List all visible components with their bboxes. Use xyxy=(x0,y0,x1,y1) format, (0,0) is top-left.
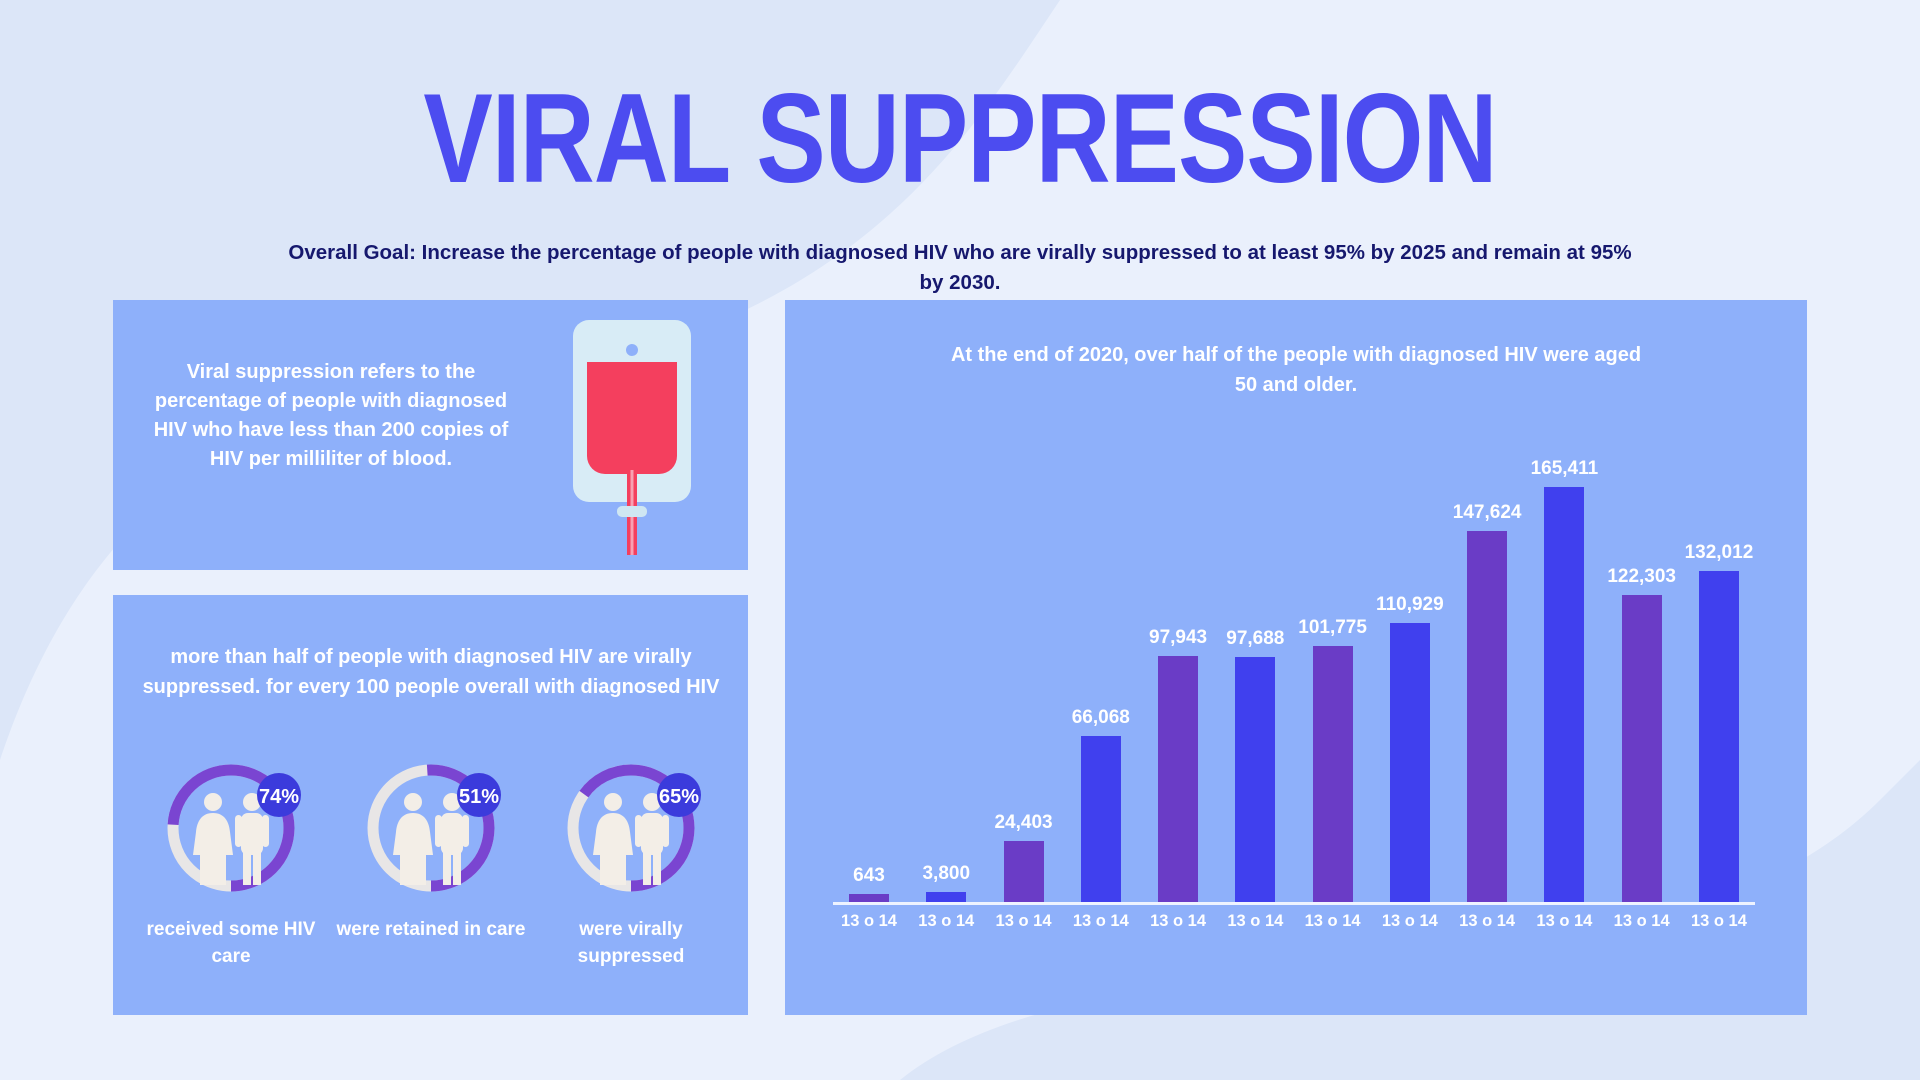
x-axis-tick: 13 o 14 xyxy=(1071,912,1131,931)
x-axis-tick: 13 o 14 xyxy=(1457,912,1517,931)
bar-value-label: 147,624 xyxy=(1453,502,1522,524)
page-title: VIRAL SUPPRESSION xyxy=(0,0,1920,203)
header: VIRAL SUPPRESSION Overall Goal: Increase… xyxy=(0,0,1920,298)
definition-text: Viral suppression refers to the percenta… xyxy=(141,358,521,474)
donut-cell-received-care: 74% received some HIV care xyxy=(136,753,326,970)
bar xyxy=(1467,531,1507,902)
x-axis-tick: 13 o 14 xyxy=(1225,912,1285,931)
bar-column: 165,411 xyxy=(1534,420,1594,902)
bar xyxy=(1390,623,1430,902)
bar-column: 101,775 xyxy=(1303,420,1363,902)
bar-chart: 6433,80024,40366,06897,94397,688101,7751… xyxy=(825,420,1767,980)
donut-badge-value: 74% xyxy=(259,786,299,808)
bar-column: 122,303 xyxy=(1612,420,1672,902)
bar-column: 97,688 xyxy=(1225,420,1285,902)
bar xyxy=(1081,736,1121,902)
bar-column: 110,929 xyxy=(1380,420,1440,902)
bar xyxy=(1313,646,1353,902)
x-axis-tick: 13 o 14 xyxy=(1148,912,1208,931)
donut-badge-value: 51% xyxy=(459,786,499,808)
bar-value-label: 97,688 xyxy=(1226,628,1284,650)
bar-column: 97,943 xyxy=(1148,420,1208,902)
page-subtitle: Overall Goal: Increase the percentage of… xyxy=(285,238,1635,298)
bar-chart-plot: 6433,80024,40366,06897,94397,688101,7751… xyxy=(839,420,1749,902)
donut-label: received some HIV care xyxy=(136,916,326,970)
bar-column: 66,068 xyxy=(1071,420,1131,902)
x-axis-tick: 13 o 14 xyxy=(839,912,899,931)
donut-badge-value: 65% xyxy=(659,786,699,808)
x-axis-tick: 13 o 14 xyxy=(1380,912,1440,931)
bar xyxy=(1544,487,1584,902)
donut-chart-row: 74% received some HIV care xyxy=(131,753,731,970)
donut-cell-retained-in-care: 51% were retained in care xyxy=(336,753,526,970)
bar-column: 147,624 xyxy=(1457,420,1517,902)
x-axis-tick: 13 o 14 xyxy=(1303,912,1363,931)
bar-value-label: 101,775 xyxy=(1298,617,1367,639)
bar-column: 643 xyxy=(839,420,899,902)
bar-column: 24,403 xyxy=(994,420,1054,902)
infographic-page: VIRAL SUPPRESSION Overall Goal: Increase… xyxy=(0,0,1920,1080)
stats-text: more than half of people with diagnosed … xyxy=(141,642,721,702)
donut-chart-retained-in-care: 51% xyxy=(356,753,506,903)
bar-value-label: 132,012 xyxy=(1685,542,1754,564)
bar-value-label: 3,800 xyxy=(922,863,970,885)
bar-value-label: 165,411 xyxy=(1531,458,1599,480)
donut-cell-virally-suppressed: 65% were virally suppressed xyxy=(536,753,726,970)
bar-value-label: 24,403 xyxy=(994,812,1052,834)
x-axis-tick: 13 o 14 xyxy=(1689,912,1749,931)
chart-card: At the end of 2020, over half of the peo… xyxy=(785,300,1807,1015)
x-axis-tick-labels: 13 o 1413 o 1413 o 1413 o 1413 o 1413 o … xyxy=(839,912,1749,931)
donut-label: were retained in care xyxy=(336,916,526,943)
donut-label: were virally suppressed xyxy=(536,916,726,970)
bar xyxy=(1235,657,1275,902)
x-axis-tick: 13 o 14 xyxy=(1534,912,1594,931)
definition-card: Viral suppression refers to the percenta… xyxy=(113,300,748,570)
bar-value-label: 97,943 xyxy=(1149,627,1207,649)
bar-value-label: 66,068 xyxy=(1072,707,1130,729)
bar xyxy=(1699,571,1739,902)
blood-bag-icon xyxy=(551,310,726,560)
bar xyxy=(1622,595,1662,902)
x-axis-line xyxy=(833,902,1755,905)
bar xyxy=(1158,656,1198,902)
bar-value-label: 122,303 xyxy=(1607,566,1676,588)
x-axis-tick: 13 o 14 xyxy=(1612,912,1672,931)
bar xyxy=(1004,841,1044,902)
bar xyxy=(926,892,966,902)
bar-column: 132,012 xyxy=(1689,420,1749,902)
donut-chart-received-care: 74% xyxy=(156,753,306,903)
donut-chart-virally-suppressed: 65% xyxy=(556,753,706,903)
x-axis-tick: 13 o 14 xyxy=(994,912,1054,931)
x-axis-tick: 13 o 14 xyxy=(916,912,976,931)
bar-column: 3,800 xyxy=(916,420,976,902)
chart-caption: At the end of 2020, over half of the peo… xyxy=(946,340,1646,400)
bar-value-label: 110,929 xyxy=(1376,594,1444,616)
bar xyxy=(849,894,889,902)
bar-value-label: 643 xyxy=(853,865,885,887)
stats-card: more than half of people with diagnosed … xyxy=(113,595,748,1015)
